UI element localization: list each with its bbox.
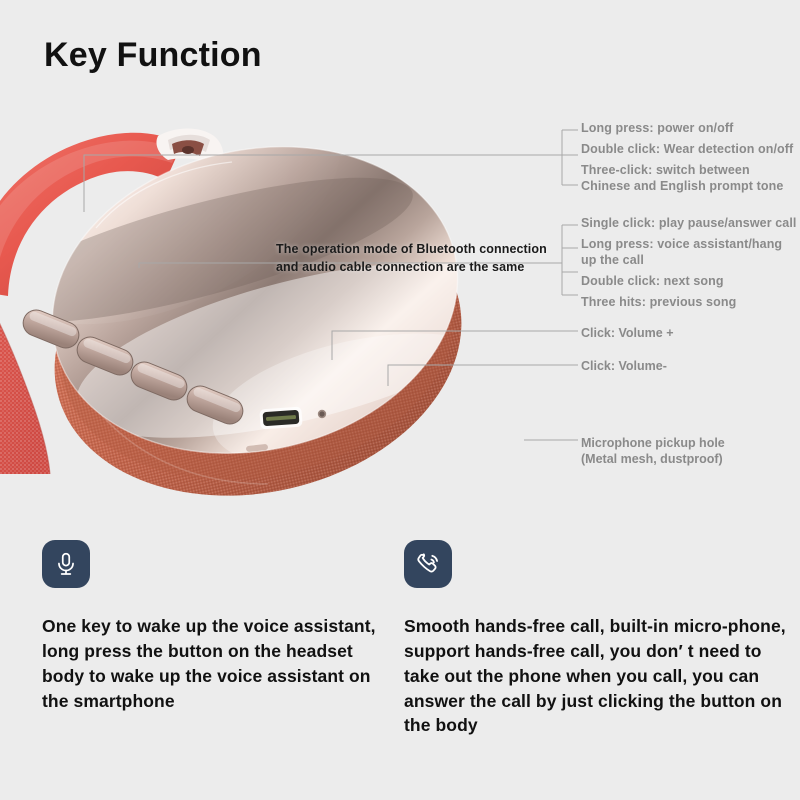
annotation-voice-assistant: Long press: voice assistant/hang up the …	[581, 236, 800, 268]
annotation-prompt-tone: Three-click: switch between Chinese and …	[581, 162, 800, 194]
micro-usb-port	[259, 407, 302, 430]
annotation-next-song: Double click: next song	[581, 273, 800, 289]
annotation-group-multifunction: Single click: play pause/answer call Lon…	[581, 215, 800, 310]
feature-voice-assistant-text: One key to wake up the voice assistant, …	[42, 614, 392, 713]
product-illustration	[0, 100, 600, 520]
annotation-microphone-line1: Microphone pickup hole	[581, 435, 725, 451]
phone-call-icon	[404, 540, 452, 588]
annotation-previous-song: Three hits: previous song	[581, 294, 800, 310]
bluetooth-callout: The operation mode of Bluetooth connecti…	[276, 240, 547, 276]
feature-voice-assistant: One key to wake up the voice assistant, …	[42, 540, 392, 713]
microphone-pickup-hole	[318, 410, 326, 418]
annotation-group-power: Long press: power on/off Double click: W…	[581, 120, 800, 194]
annotation-microphone: Microphone pickup hole (Metal mesh, dust…	[581, 435, 725, 468]
feature-hands-free-call-text: Smooth hands-free call, built-in micro-p…	[404, 614, 786, 738]
annotation-volume-up: Click: Volume +	[581, 325, 674, 341]
annotation-play-pause: Single click: play pause/answer call	[581, 215, 800, 231]
headphone-graphic	[0, 100, 600, 520]
annotation-microphone-line2: (Metal mesh, dustproof)	[581, 451, 725, 467]
microphone-icon	[42, 540, 90, 588]
feature-hands-free-call: Smooth hands-free call, built-in micro-p…	[404, 540, 786, 738]
annotation-volume-down: Click: Volume-	[581, 358, 667, 374]
bluetooth-callout-line1: The operation mode of Bluetooth connecti…	[276, 240, 547, 258]
annotation-wear-detection: Double click: Wear detection on/off	[581, 141, 800, 157]
bluetooth-callout-line2: and audio cable connection are the same	[276, 258, 547, 276]
annotation-power-on-off: Long press: power on/off	[581, 120, 800, 136]
page-title: Key Function	[44, 36, 262, 75]
